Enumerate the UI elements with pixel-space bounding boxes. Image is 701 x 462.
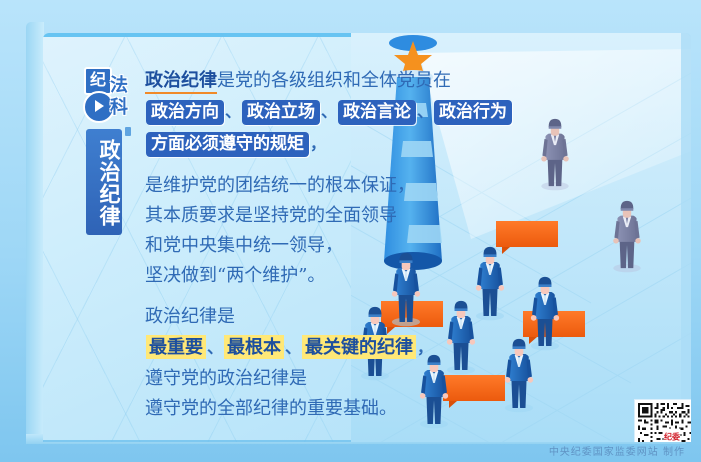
poster-root: 纪 法 科 政治纪律 政治纪律是党的各级组织和全体党员在 政治方向、政治立场、政…: [0, 0, 701, 462]
copy-line-6: 坚决做到“两个维护”。: [145, 261, 495, 291]
frame-bevel-left: [26, 22, 44, 442]
chip-row-2: 方面必须遵守的规矩，: [145, 130, 495, 160]
chip-political-conduct: 政治行为: [434, 100, 512, 125]
highlight-row: 最重要、最根本、最关键的纪律，: [145, 334, 495, 364]
chip-political-direction: 政治方向: [146, 100, 224, 125]
keyword-zhengzhijilv: 政治纪律: [145, 70, 217, 94]
qr-center-logo: 纪委: [664, 429, 681, 443]
logo-vertical-title: 政治纪律: [86, 129, 122, 235]
logo-char-fa: 法: [110, 75, 133, 97]
chip-separator: 、: [225, 104, 241, 121]
copy-line-7: 政治纪律是: [145, 302, 495, 332]
logo-mark: 纪 法 科: [81, 67, 133, 127]
highlight-separator: 、: [285, 340, 301, 357]
body-copy: 政治纪律是党的各级组织和全体党员在 政治方向、政治立场、政治言论、政治行为 方面…: [145, 66, 495, 424]
logo-char-ke: 科: [110, 97, 133, 119]
copy-line-4: 其本质要求是坚持党的全面领导: [145, 201, 495, 231]
highlight-most-fundamental: 最根本: [224, 335, 284, 359]
copy-line-1: 政治纪律是党的各级组织和全体党员在: [145, 66, 495, 96]
footer-credit: 中央纪委国家监委网站 制作: [549, 443, 685, 458]
content-panel: 纪 法 科 政治纪律 政治纪律是党的各级组织和全体党员在 政治方向、政治立场、政…: [43, 33, 691, 442]
highlight-separator: 、: [207, 340, 223, 357]
chip-political-speech: 政治言论: [338, 100, 416, 125]
chip-row-1: 政治方向、政治立场、政治言论、政治行为: [145, 98, 495, 128]
chip-separator: 、: [417, 104, 433, 121]
copy-line-5: 和党中央集中统一领导，: [145, 231, 495, 261]
chip-separator: 、: [321, 104, 337, 121]
copy-line-1-rest: 是党的各级组织和全体党员在: [217, 70, 451, 91]
highlight-comma: ，: [417, 340, 433, 357]
highlight-most-important: 最重要: [146, 335, 206, 359]
highlight-most-critical: 最关键的纪律: [302, 335, 416, 359]
copy-line-3: 是维护党的团结统一的根本保证，: [145, 171, 495, 201]
qr-center-logo-text: 纪委: [664, 433, 680, 441]
copy-comma: ，: [310, 136, 326, 153]
chip-rules-to-follow: 方面必须遵守的规矩: [146, 132, 309, 157]
qr-code[interactable]: 纪委: [635, 400, 691, 442]
copy-line-9: 遵守党的政治纪律是: [145, 364, 495, 394]
chip-political-stance: 政治立场: [242, 100, 320, 125]
program-logo: 纪 法 科 政治纪律: [81, 67, 133, 235]
copy-line-10: 遵守党的全部纪律的重要基础。: [145, 394, 495, 424]
logo-tip-accent: [125, 127, 131, 136]
